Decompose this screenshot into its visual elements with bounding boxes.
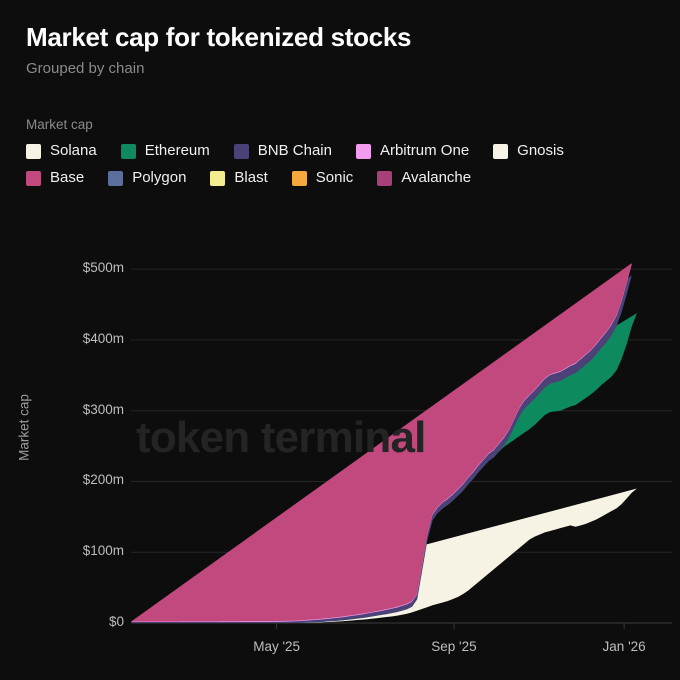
legend-rows: SolanaEthereumBNB ChainArbitrum OneGnosi… — [26, 142, 666, 187]
legend-swatch-icon — [26, 144, 41, 159]
area-series-base — [131, 263, 632, 621]
legend-item-polygon[interactable]: Polygon — [108, 169, 186, 187]
legend-item-ethereum[interactable]: Ethereum — [121, 142, 210, 160]
legend-item-label: Sonic — [316, 169, 354, 187]
x-tick-label: Sep '25 — [431, 639, 476, 654]
legend-item-label: Polygon — [132, 169, 186, 187]
legend-item-avalanche[interactable]: Avalanche — [377, 169, 471, 187]
page-title: Market cap for tokenized stocks — [26, 20, 660, 54]
legend-item-label: BNB Chain — [258, 142, 332, 160]
legend-swatch-icon — [108, 171, 123, 186]
y-tick-label: $500m — [83, 260, 124, 275]
chart-plot-area: token terminal Market cap $0$100m$200m$3… — [0, 225, 680, 680]
y-tick-label: $200m — [83, 472, 124, 487]
legend-item-label: Ethereum — [145, 142, 210, 160]
legend-item-bnb-chain[interactable]: BNB Chain — [234, 142, 332, 160]
legend-swatch-icon — [377, 171, 392, 186]
legend-item-label: Solana — [50, 142, 97, 160]
legend-item-solana[interactable]: Solana — [26, 142, 97, 160]
legend-item-label: Blast — [234, 169, 267, 187]
legend-item-arbitrum-one[interactable]: Arbitrum One — [356, 142, 469, 160]
y-tick-label: $400m — [83, 331, 124, 346]
legend-swatch-icon — [356, 144, 371, 159]
y-tick-label: $0 — [109, 614, 124, 629]
legend-item-sonic[interactable]: Sonic — [292, 169, 354, 187]
y-tick-label: $100m — [83, 543, 124, 558]
y-axis-ticks: $0$100m$200m$300m$400m$500m — [0, 225, 124, 680]
legend-title: Market cap — [26, 117, 666, 133]
legend-swatch-icon — [292, 171, 307, 186]
legend-row: BasePolygonBlastSonicAvalanche — [26, 169, 666, 187]
legend-row: SolanaEthereumBNB ChainArbitrum OneGnosi… — [26, 142, 666, 160]
x-tick-label: May '25 — [253, 639, 300, 654]
legend-item-label: Avalanche — [401, 169, 471, 187]
chart-header: Market cap for tokenized stocks Grouped … — [26, 20, 660, 80]
legend-item-gnosis[interactable]: Gnosis — [493, 142, 564, 160]
legend-item-base[interactable]: Base — [26, 169, 84, 187]
legend-swatch-icon — [493, 144, 508, 159]
chart-screenshot: Market cap for tokenized stocks Grouped … — [0, 0, 680, 680]
page-subtitle: Grouped by chain — [26, 58, 660, 80]
y-tick-label: $300m — [83, 402, 124, 417]
legend-item-label: Base — [50, 169, 84, 187]
x-tick-label: Jan '26 — [603, 639, 646, 654]
chart-legend: Market cap SolanaEthereumBNB ChainArbitr… — [26, 117, 666, 187]
legend-item-blast[interactable]: Blast — [210, 169, 267, 187]
legend-item-label: Gnosis — [517, 142, 564, 160]
legend-swatch-icon — [121, 144, 136, 159]
legend-swatch-icon — [210, 171, 225, 186]
legend-swatch-icon — [234, 144, 249, 159]
legend-item-label: Arbitrum One — [380, 142, 469, 160]
legend-swatch-icon — [26, 171, 41, 186]
